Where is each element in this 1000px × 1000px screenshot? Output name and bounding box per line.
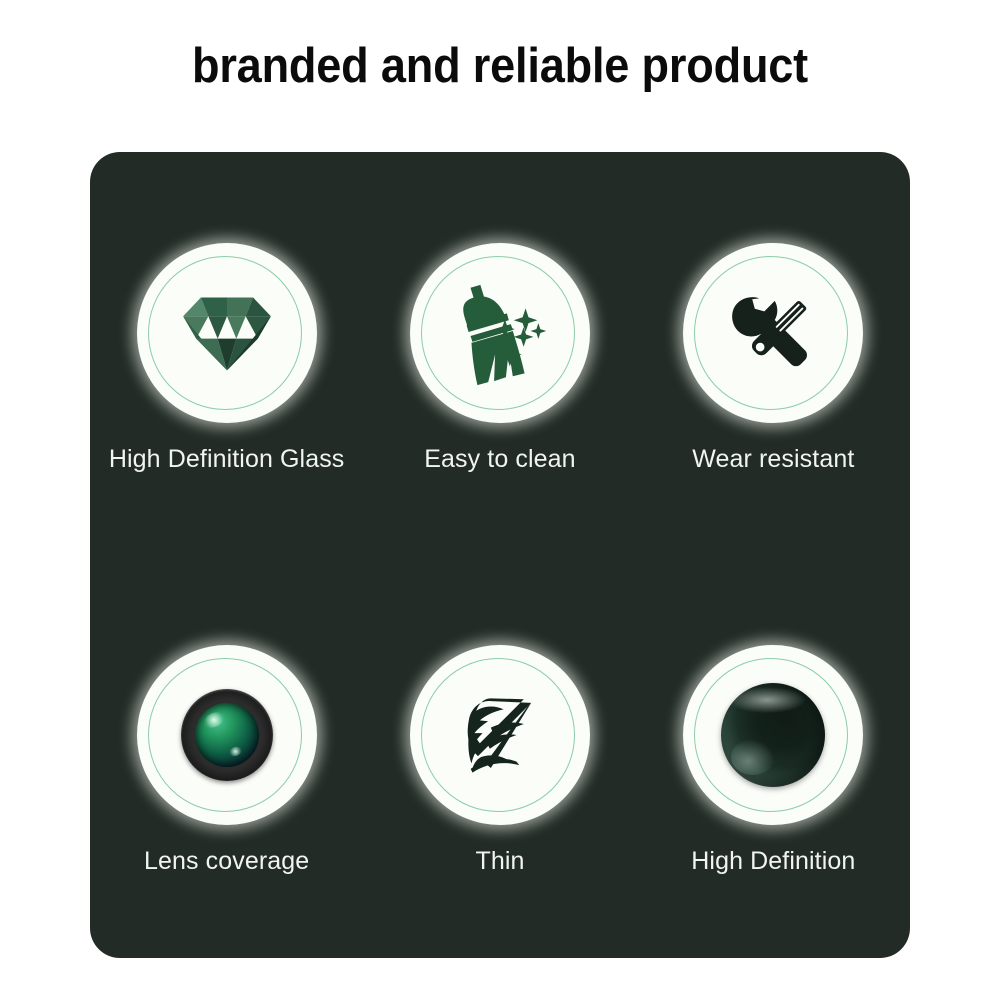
feature-label: High Definition Glass	[109, 445, 345, 474]
page-title: branded and reliable product	[40, 36, 960, 96]
feature-item-high-definition-glass[interactable]: High Definition Glass	[107, 233, 347, 474]
feature-item-lens-coverage[interactable]: Lens coverage	[107, 637, 347, 876]
feature-label: High Definition	[691, 847, 855, 876]
feature-item-wear-resistant[interactable]: Wear resistant	[653, 233, 893, 474]
feature-label: Wear resistant	[692, 445, 854, 474]
wrench-screwdriver-icon	[721, 281, 825, 385]
feature-item-easy-to-clean[interactable]: Easy to clean	[380, 233, 620, 474]
feature-item-high-definition[interactable]: High Definition	[653, 637, 893, 876]
icon-disc	[137, 645, 317, 825]
broom-sparkle-icon	[441, 274, 559, 392]
icon-disc	[410, 243, 590, 423]
icon-disc	[137, 243, 317, 423]
feature-card: High Definition Glass	[90, 152, 910, 958]
glass-sphere-icon	[721, 683, 825, 787]
icon-disc	[683, 645, 863, 825]
feature-grid: High Definition Glass	[90, 152, 910, 958]
feather-icon	[445, 680, 555, 790]
lens-highlight	[228, 745, 243, 758]
feature-label: Easy to clean	[424, 445, 575, 474]
feature-label: Lens coverage	[144, 847, 309, 876]
icon-disc	[683, 243, 863, 423]
feature-label: Thin	[475, 847, 524, 876]
diamond-icon	[171, 277, 283, 389]
icon-disc	[410, 645, 590, 825]
camera-lens-icon	[181, 689, 273, 781]
feature-item-thin[interactable]: Thin	[380, 637, 620, 876]
